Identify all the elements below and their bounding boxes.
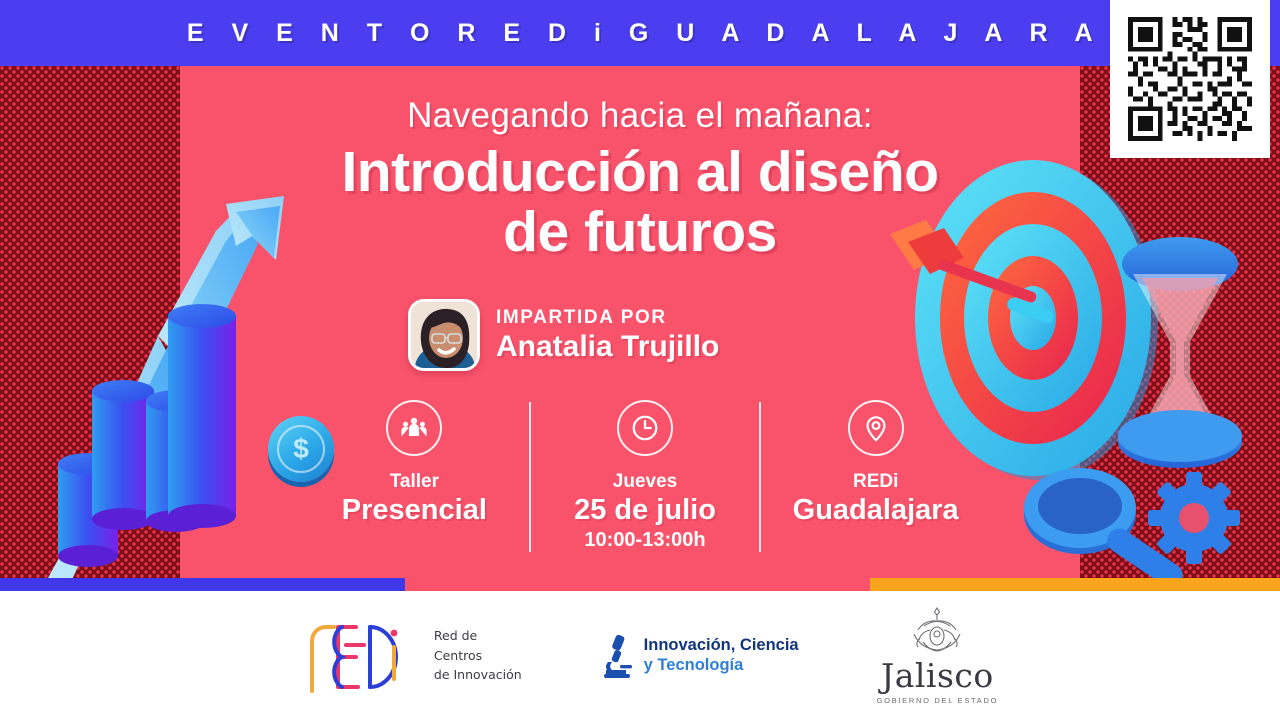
poster-stage: $ <box>0 66 1280 590</box>
logo-redi: Red de Centros de Innovación <box>282 619 522 693</box>
microscope-icon <box>600 632 636 680</box>
qr-code-panel[interactable] <box>1110 0 1270 158</box>
accent-strip-orange <box>870 578 1280 591</box>
speaker-name: Anatalia Trujillo <box>496 330 719 364</box>
info-sub-time: 10:00-13:00h <box>531 529 760 552</box>
headline-line-2: de futuros <box>270 202 1010 262</box>
accent-strip-blue <box>0 578 405 591</box>
event-poster: E V E N T O R E D i G U A D A L A J A R … <box>0 0 1280 720</box>
info-small-modality: Taller <box>300 472 529 493</box>
headline-title: Introducción al diseño de futuros <box>270 142 1010 263</box>
redi-tagline-line-3: de Innovación <box>434 665 522 684</box>
logo-innovacion-ciencia-tecnologia: Innovación, Ciencia y Tecnología <box>600 632 799 680</box>
jalisco-name: Jalisco <box>877 659 998 692</box>
redi-tagline-line-2: Centros <box>434 646 522 665</box>
headline-line-1: Introducción al diseño <box>270 142 1010 202</box>
ict-line-2: y Tecnología <box>644 656 799 675</box>
redi-logo <box>282 619 422 693</box>
info-big-modality: Presencial <box>300 494 529 526</box>
ict-text: Innovación, Ciencia y Tecnología <box>644 636 799 675</box>
accent-strip-pink <box>405 578 870 591</box>
info-big-venue: Guadalajara <box>761 494 990 526</box>
speaker-portrait <box>411 302 480 371</box>
footer-logos: Red de Centros de Innovación Innovación,… <box>0 591 1280 720</box>
info-column-modality: Taller Presencial <box>300 400 529 526</box>
clock-icon <box>617 400 673 456</box>
redi-tagline: Red de Centros de Innovación <box>434 626 522 684</box>
info-small-venue: REDi <box>761 472 990 493</box>
info-columns: Taller Presencial Jueves 25 de julio 10:… <box>300 400 990 552</box>
people-icon <box>386 400 442 456</box>
logo-jalisco: Jalisco GOBIERNO DEL ESTADO <box>877 606 998 705</box>
avatar <box>408 299 480 371</box>
speaker-kicker: IMPARTIDA POR <box>496 307 719 329</box>
qr-code[interactable] <box>1128 17 1252 141</box>
jalisco-crest <box>894 606 980 654</box>
redi-tagline-line-1: Red de <box>434 626 522 645</box>
headline-block: Navegando hacia el mañana: Introducción … <box>270 96 1010 263</box>
speaker-text: IMPARTIDA POR Anatalia Trujillo <box>496 307 719 364</box>
info-big-date: 25 de julio <box>531 494 760 526</box>
jalisco-subtitle: GOBIERNO DEL ESTADO <box>877 696 998 705</box>
speaker-block: IMPARTIDA POR Anatalia Trujillo <box>408 299 868 371</box>
banner-title: E V E N T O R E D i G U A D A L A J A R … <box>0 0 1280 66</box>
top-banner: E V E N T O R E D i G U A D A L A J A R … <box>0 0 1280 66</box>
info-column-venue: REDi Guadalajara <box>761 400 990 526</box>
info-small-date: Jueves <box>531 472 760 493</box>
gear-icon <box>1148 472 1240 564</box>
location-pin-icon <box>848 400 904 456</box>
ict-line-1: Innovación, Ciencia <box>644 636 799 655</box>
headline-kicker: Navegando hacia el mañana: <box>270 96 1010 136</box>
info-column-date: Jueves 25 de julio 10:00-13:00h <box>531 400 760 552</box>
